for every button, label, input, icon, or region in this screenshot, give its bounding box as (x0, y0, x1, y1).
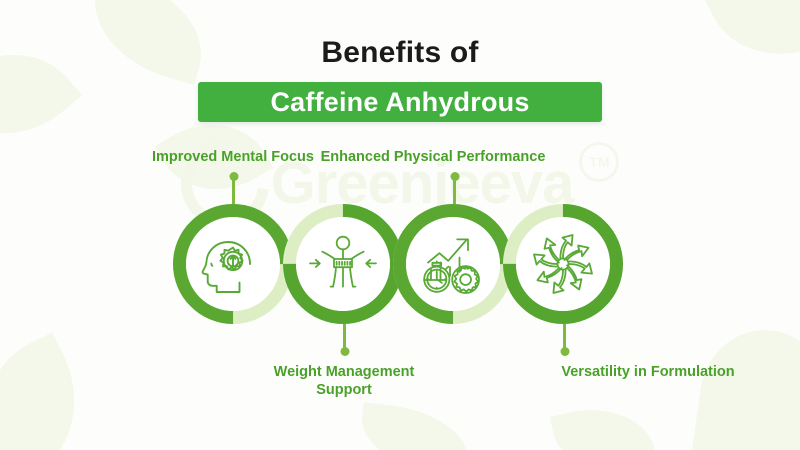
benefit-circle-row (0, 0, 800, 450)
head-gear-arrow-icon (186, 217, 280, 311)
benefit-node-1[interactable] (283, 204, 403, 324)
benefit-node-2[interactable] (393, 204, 513, 324)
stopwatch-gear-growth-icon (406, 217, 500, 311)
infographic-canvas: Greenjeeva TM Promoting Healthy Living B… (0, 0, 800, 450)
radiating-arrows-icon (516, 217, 610, 311)
benefit-node-0[interactable] (173, 204, 293, 324)
benefit-node-3[interactable] (503, 204, 623, 324)
body-measuring-tape-icon (296, 217, 390, 311)
